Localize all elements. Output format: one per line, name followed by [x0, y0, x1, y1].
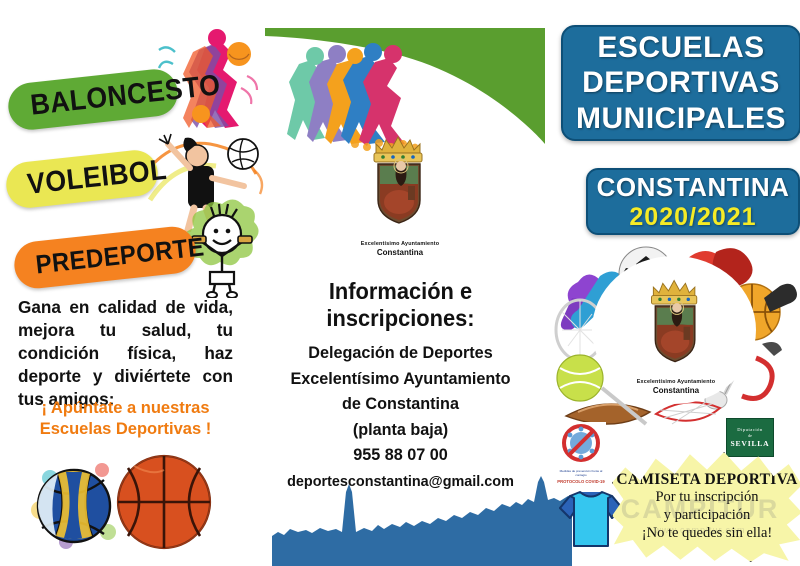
- watermark: CAMPITUR www.campitur.com: [600, 494, 800, 535]
- diputacion-sevilla-logo: Diputación de SEVILLA: [726, 418, 774, 457]
- coat-of-arms-icon: [352, 128, 448, 234]
- info-line-1: Delegación de Deportes: [258, 341, 543, 367]
- dip-line-2: de: [748, 433, 752, 438]
- title-panel: ESCUELAS DEPORTIVAS MUNICIPALES: [561, 25, 800, 141]
- right-crest-caption-bottom: Constantina: [630, 386, 722, 396]
- info-line-3: de Constantina: [258, 392, 543, 418]
- badge-predeporte: PREDEPORTE: [12, 224, 198, 290]
- poster-root: BALONCESTO VOLEIBOL PREDEPORTE Gana en c…: [0, 0, 800, 566]
- title-line-1: ESCUELAS: [597, 30, 764, 65]
- info-line-4: (planta baja): [258, 418, 543, 444]
- city-name: CONSTANTINA: [597, 172, 790, 203]
- info-line-2: Excelentísimo Ayuntamiento: [258, 367, 543, 393]
- dip-line-1: Diputación: [737, 427, 762, 432]
- covid-protocol-label: PROTOCOLO COVID-19: [556, 479, 606, 484]
- covid-caption: Medidas de prevención frente al contagio…: [556, 470, 606, 484]
- info-heading: Información e inscripciones:: [265, 278, 536, 332]
- watermark-text: CAMPITUR: [621, 494, 780, 524]
- coat-of-arms-circular-icon: [630, 272, 722, 372]
- promo-cta-line2: Escuelas Deportivas !: [18, 419, 233, 440]
- watermark-sub: www.campitur.com: [600, 525, 800, 535]
- title-line-2: DEPORTIVAS: [582, 65, 780, 100]
- dip-line-3: SEVILLA: [731, 439, 770, 448]
- right-coat-of-arms: Excelentísimo Ayuntamiento Constantina: [630, 272, 722, 396]
- crest-caption: Excelentísimo Ayuntamiento Constantina: [352, 241, 448, 258]
- center-info-block: Información e inscripciones: Delegación …: [258, 278, 543, 490]
- right-crest-caption: Excelentísimo Ayuntamiento Constantina: [630, 379, 722, 396]
- covid-protocol-logo: Medidas de prevención frente al contagio…: [556, 422, 606, 478]
- promo-body-text: Gana en calidad de vida, mejora tu salud…: [18, 296, 233, 410]
- title-line-3: MUNICIPALES: [576, 101, 786, 136]
- promo-cta-line1: ¡ Apúntate a nuestras: [18, 398, 233, 419]
- crest-caption-bottom: Constantina: [352, 248, 448, 258]
- right-crest-caption-top: Excelentísimo Ayuntamiento: [637, 379, 716, 385]
- starburst-title: CAMISETA DEPORTIVA: [616, 471, 797, 489]
- town-skyline-graphic: [272, 474, 572, 566]
- promo-cta: ¡ Apúntate a nuestras Escuelas Deportiva…: [18, 398, 233, 441]
- covid-caption-text: Medidas de prevención frente al contagio: [560, 469, 603, 477]
- balls-graphic: [14, 448, 234, 560]
- city-season-panel: CONSTANTINA 2020/2021: [586, 168, 800, 235]
- info-phone: 955 88 07 00: [258, 443, 543, 469]
- crest-caption-top: Excelentísimo Ayuntamiento: [361, 241, 440, 247]
- center-coat-of-arms: Excelentísimo Ayuntamiento Constantina: [352, 128, 448, 258]
- season-label: 2020/2021: [629, 203, 756, 232]
- covid-prohibition-icon: [558, 422, 604, 464]
